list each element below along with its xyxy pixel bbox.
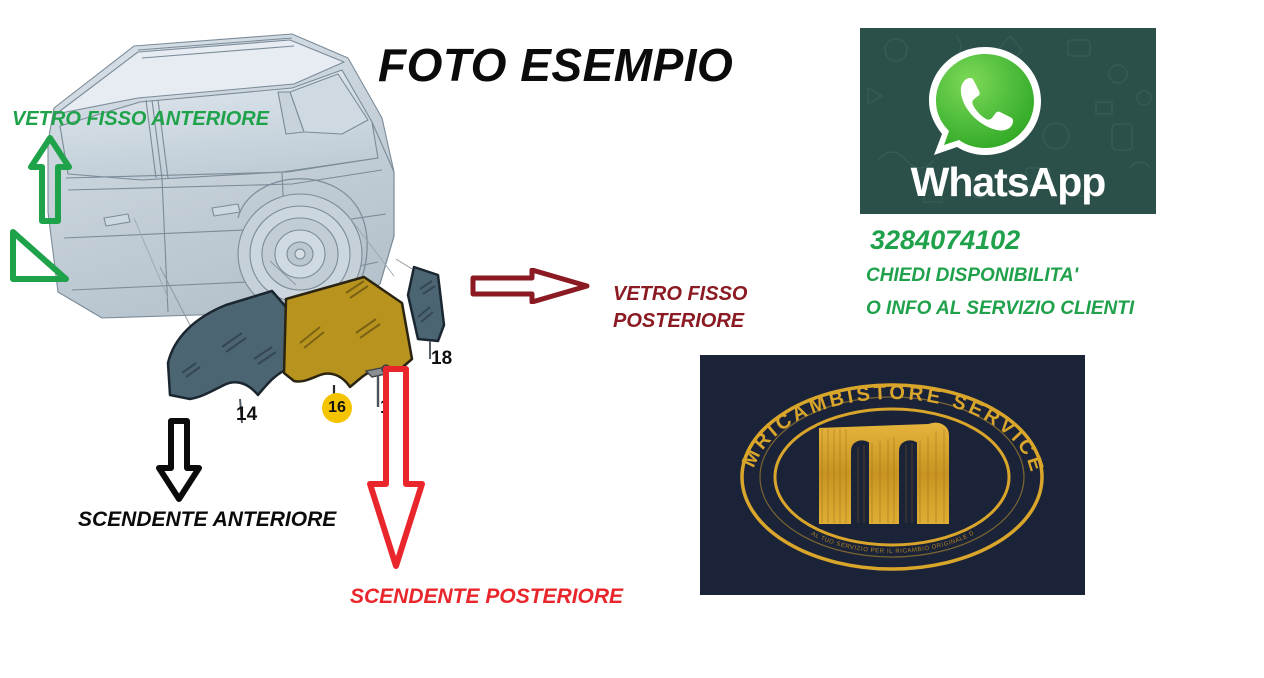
green-up-arrow-icon (28, 135, 72, 225)
part-number-14: 14 (236, 404, 257, 426)
green-triangle-icon (8, 228, 70, 284)
part-number-16-badge: 16 (322, 393, 352, 423)
whatsapp-banner[interactable]: WhatsApp (860, 28, 1156, 214)
page-title: FOTO ESEMPIO (378, 38, 733, 92)
whatsapp-cta-line1: CHIEDI DISPONIBILITA' (866, 265, 1078, 287)
label-scendente-posteriore: SCENDENTE POSTERIORE (350, 585, 623, 609)
shop-logo-graphic: MRICAMBISTORE SERVICE DI RUSSO MARCO AL … (700, 355, 1085, 595)
label-vetro-fisso-posteriore: VETRO FISSO POSTERIORE (613, 281, 747, 335)
dark-red-right-arrow-icon (470, 268, 590, 304)
exploded-glass-parts (150, 255, 480, 435)
poster-canvas: 14 18 17 16 FOTO ESEMPIO VETRO FISSO ANT… (0, 0, 1264, 678)
part-14-front-drop-glass (168, 291, 292, 423)
shop-logo: MRICAMBISTORE SERVICE DI RUSSO MARCO AL … (700, 355, 1085, 595)
whatsapp-logo-icon (924, 42, 1046, 164)
whatsapp-cta-line2: O INFO AL SERVIZIO CLIENTI (866, 298, 1134, 320)
label-vetro-fisso-posteriore-line2: POSTERIORE (613, 308, 747, 335)
part-18-rear-fixed-glass (408, 267, 444, 359)
label-vetro-fisso-anteriore: VETRO FISSO ANTERIORE (12, 108, 269, 131)
label-scendente-anteriore: SCENDENTE ANTERIORE (78, 508, 336, 532)
part-number-18: 18 (431, 348, 452, 370)
red-down-arrow-icon (365, 366, 427, 571)
black-down-arrow-icon (155, 418, 203, 503)
whatsapp-wordmark: WhatsApp (860, 159, 1156, 206)
label-vetro-fisso-posteriore-line1: VETRO FISSO (613, 281, 747, 308)
whatsapp-phone-number[interactable]: 3284074102 (870, 225, 1020, 256)
